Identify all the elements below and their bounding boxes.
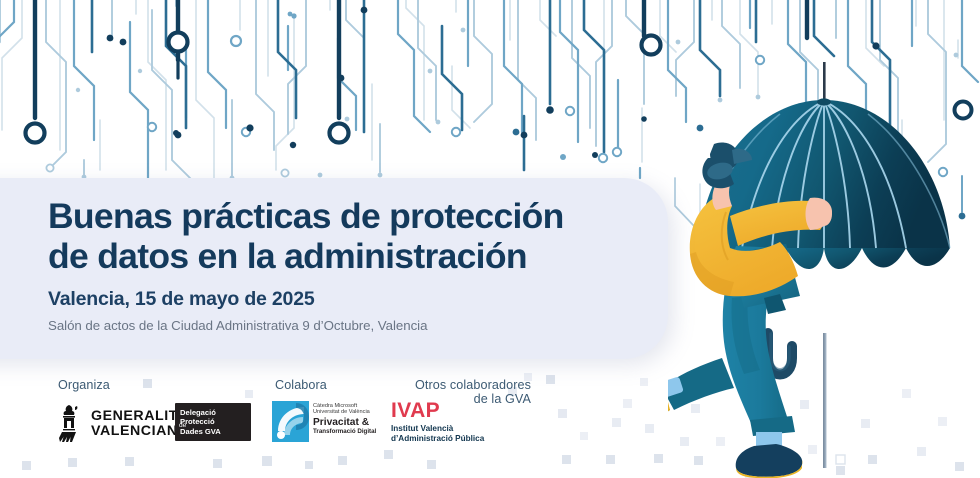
catedra-privacitat-transformacio-digital-logo: Càtedra Microsoft Universitat de Valènci… (272, 401, 380, 442)
person-holding-umbrella-illustration (668, 58, 980, 478)
sponsor-heading-colabora: Colabora (275, 378, 327, 392)
privacitat-title: Privacitat & (313, 417, 376, 428)
delegacio-proteccio-dades-gva-logo: de Delegació Protecció Dades GVA (175, 403, 251, 441)
privacitat-wifi-mark-icon (272, 401, 309, 442)
event-date: Valencia, 15 de mayo de 2025 (48, 288, 668, 311)
person-back-leg (668, 358, 734, 418)
sponsor-group-colabora: Colabora (275, 378, 327, 392)
delegacio-de-word: de (179, 422, 186, 429)
sponsor-heading-organiza: Organiza (58, 378, 196, 392)
gva-crest-icon (58, 404, 84, 444)
ivap-logo: IVAP Institut Valencià d’Administració P… (391, 400, 484, 443)
event-venue: Salón de actos de la Ciudad Administrati… (48, 318, 668, 333)
ivap-subtitle: Institut Valencià d’Administració Públic… (391, 424, 484, 443)
umbrella-canopy (698, 98, 950, 269)
panel-content: Buenas prácticas de protección de datos … (48, 196, 668, 333)
event-banner: Buenas prácticas de protección de datos … (0, 0, 980, 478)
page-title: Buenas prácticas de protección de datos … (48, 196, 668, 276)
privacitat-catedra-line: Càtedra Microsoft Universitat de Valènci… (313, 403, 376, 416)
privacitat-subtitle: Transformació Digital (313, 428, 376, 435)
privacitat-text-block: Càtedra Microsoft Universitat de Valènci… (309, 401, 376, 442)
ivap-acronym: IVAP (391, 400, 484, 422)
